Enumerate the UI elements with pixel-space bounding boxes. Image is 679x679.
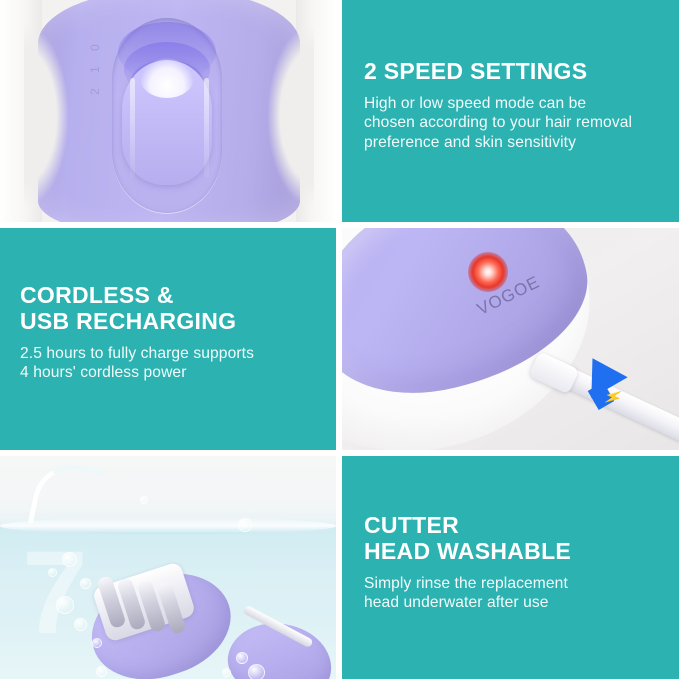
bubble [56, 596, 74, 614]
washable-headline: CUTTER HEAD WASHABLE [364, 512, 665, 564]
bubble [62, 552, 77, 567]
washable-body: Simply rinse the replacement head underw… [364, 574, 665, 613]
panel-speed-settings: 2 SPEED SETTINGS High or low speed mode … [342, 0, 679, 222]
cordless-body: 2.5 hours to fully charge supports 4 hou… [20, 344, 322, 383]
bubble [238, 518, 252, 532]
bubble [222, 668, 231, 677]
product-feature-infographic: 2 1 0 2 SPEED SETTINGS High or low speed… [0, 0, 679, 679]
device-waist-left [24, 26, 68, 206]
bubble [74, 618, 87, 631]
bubble [92, 638, 102, 648]
bubble [80, 578, 91, 589]
bubble [48, 568, 57, 577]
panel-cordless-usb: CORDLESS & USB RECHARGING 2.5 hours to f… [0, 228, 336, 450]
speed-slider-thumb [122, 60, 212, 185]
water-splash [28, 458, 107, 536]
speed-body: High or low speed mode can be chosen acc… [364, 94, 665, 152]
speed-headline: 2 SPEED SETTINGS [364, 58, 665, 84]
device-waist-right [268, 26, 314, 206]
bubble [248, 664, 265, 679]
cordless-headline: CORDLESS & USB RECHARGING [20, 282, 322, 334]
charging-led-icon [468, 252, 508, 292]
speed-level-markings: 2 1 0 [88, 38, 102, 95]
bubble [236, 652, 248, 664]
photo-underwater-rinse: 7 [0, 456, 336, 679]
panel-cutter-head-washable: CUTTER HEAD WASHABLE Simply rinse the re… [342, 456, 679, 679]
photo-speed-switch-closeup: 2 1 0 [0, 0, 336, 222]
washable-text-block: CUTTER HEAD WASHABLE Simply rinse the re… [364, 512, 665, 613]
bubble [140, 496, 148, 504]
cordless-text-block: CORDLESS & USB RECHARGING 2.5 hours to f… [20, 282, 322, 383]
speed-text-block: 2 SPEED SETTINGS High or low speed mode … [364, 58, 665, 152]
bubble [96, 666, 107, 677]
photo-charging: VOGOE ⚡ [342, 228, 679, 450]
switch-groove [204, 78, 209, 178]
switch-groove [130, 78, 135, 178]
